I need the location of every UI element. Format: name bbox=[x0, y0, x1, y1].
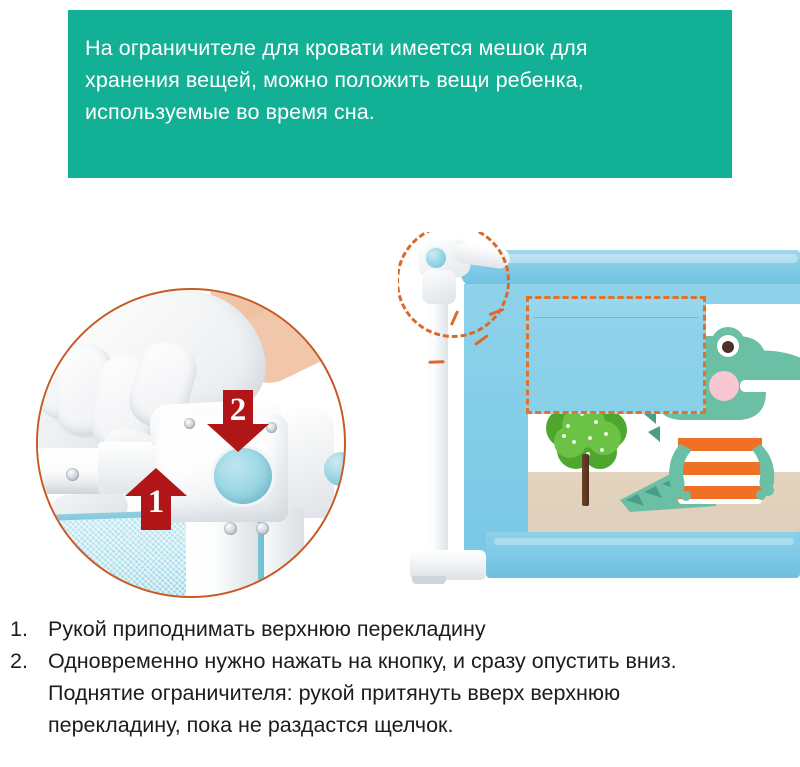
screw-icon bbox=[224, 522, 237, 535]
tree-trunk bbox=[582, 454, 589, 506]
instruction-number: 1. bbox=[10, 613, 48, 645]
bed-rail-full-photo bbox=[398, 232, 800, 604]
instruction-list: 1. Рукой приподнимать верхнюю перекладин… bbox=[10, 613, 790, 741]
vertical-post bbox=[186, 510, 258, 596]
step-marker-1-up-arrow-icon: 1 bbox=[124, 466, 188, 532]
pocket-seam bbox=[533, 317, 699, 318]
instruction-text: Одновременно нужно нажать на кнопку, и с… bbox=[48, 645, 790, 741]
info-banner: На ограничителе для кровати имеется мешо… bbox=[68, 10, 732, 178]
rail-bottom-bar-highlight bbox=[494, 538, 794, 545]
instruction-text: Рукой приподнимать верхнюю перекладину bbox=[48, 613, 790, 645]
screw-icon bbox=[66, 468, 79, 481]
rail-base-pad bbox=[412, 576, 446, 584]
info-banner-text: На ограничителе для кровати имеется мешо… bbox=[85, 32, 705, 128]
step-marker-2-label: 2 bbox=[206, 394, 270, 427]
storage-pocket bbox=[526, 296, 706, 414]
step-marker-1-label: 1 bbox=[124, 486, 188, 519]
instruction-item: 1. Рукой приподнимать верхнюю перекладин… bbox=[10, 613, 790, 645]
step-marker-2-down-arrow-icon: 2 bbox=[206, 388, 270, 454]
latch-closeup-content: 1 2 bbox=[38, 290, 344, 596]
annotation-tick bbox=[428, 360, 444, 364]
latch-closeup-photo: 1 2 bbox=[36, 288, 346, 598]
screw-icon bbox=[184, 418, 195, 429]
instruction-number: 2. bbox=[10, 645, 48, 677]
release-button[interactable] bbox=[214, 448, 272, 504]
screw-icon bbox=[256, 522, 269, 535]
instruction-item: 2. Одновременно нужно нажать на кнопку, … bbox=[10, 645, 790, 741]
rail-top-bar-highlight bbox=[468, 254, 798, 263]
